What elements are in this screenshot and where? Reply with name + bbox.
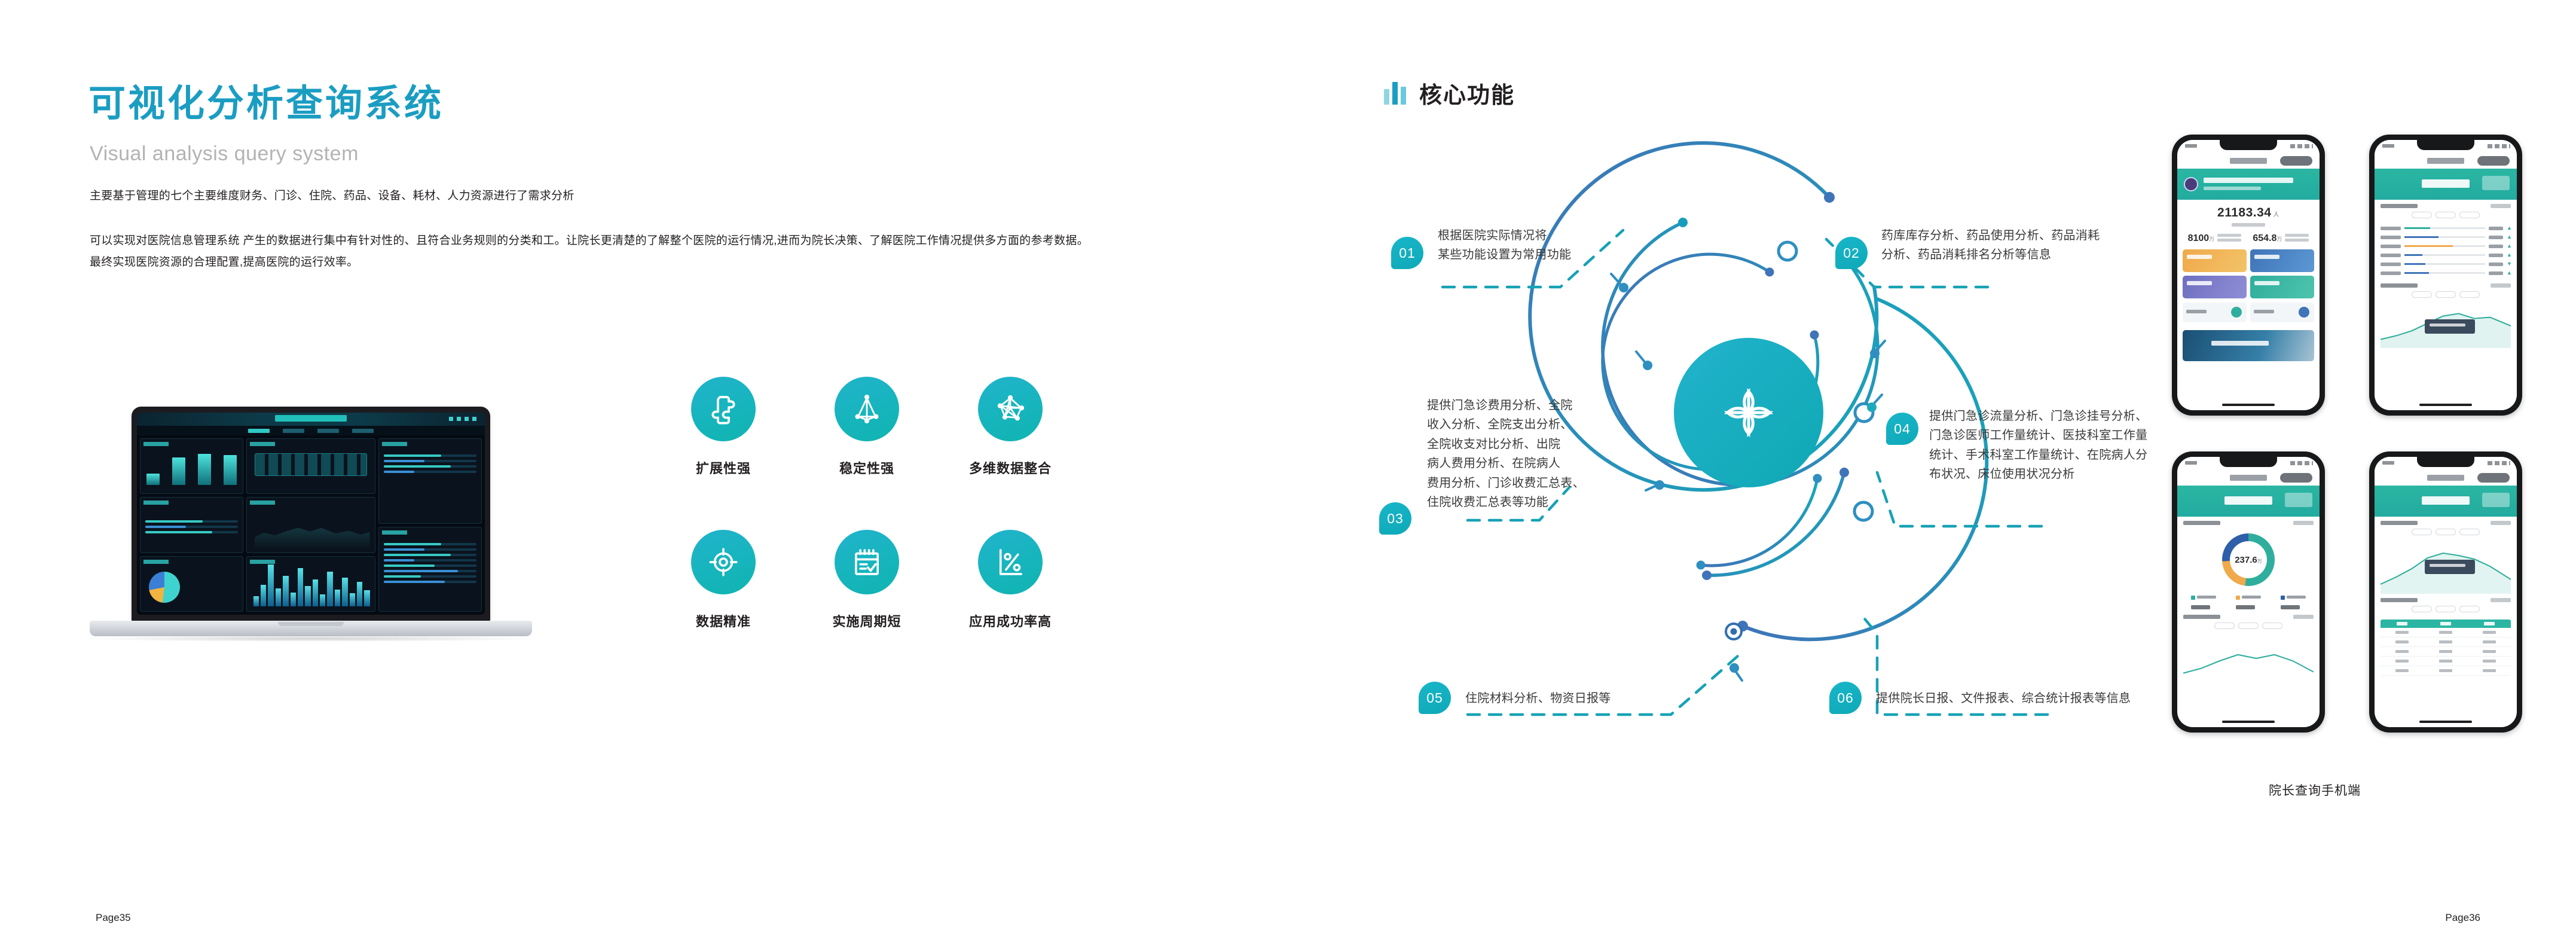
core-function-diagram: 01 根据医院实际情况将 某些功能设置为常用功能 02 药库库存分析、药品使用分… — [1288, 0, 2173, 837]
section-overview — [2375, 200, 2517, 208]
laptop-base-notch — [278, 622, 344, 626]
metric-rows: ▲ ▲ ▲ ▲ ▼ ▲ — [2375, 222, 2517, 279]
dashboard-area-card — [246, 497, 375, 553]
callout-badge-05[interactable]: 05 — [1419, 682, 1451, 714]
dashboard-spike-card — [246, 556, 375, 612]
intro-paragraph-2: 可以实现对医院信息管理系统 产生的数据进行集中有针对性的、且符合业务规则的分类和… — [90, 230, 1094, 273]
table-row — [2381, 637, 2511, 647]
tile-1[interactable] — [2183, 249, 2247, 272]
table-row: ▲ — [2381, 242, 2511, 251]
page-number-left: Page35 — [96, 912, 131, 924]
phone-dashboard: 21183.34人 8100万 654.8万 — [2172, 135, 2325, 416]
laptop-lid — [132, 407, 490, 622]
brochure-spread: 可视化分析查询系统 Visual analysis query system 主… — [0, 0, 2576, 949]
trend-filter-chips[interactable] — [2177, 619, 2320, 633]
dashboard-topbar-icons — [449, 417, 480, 421]
department-filter-chips[interactable] — [2375, 602, 2517, 616]
page-title: 可视化分析查询系统 — [88, 84, 444, 124]
callout-text-03: 提供门急诊费用分析、全院 收入分析、全院支出分析、 全院收支对比分析、出院 病人… — [1427, 396, 1585, 512]
table-row — [2381, 647, 2511, 657]
drug-trend-chart — [2183, 636, 2314, 679]
table-row — [2381, 666, 2511, 676]
home-indicator — [2222, 721, 2275, 723]
tile-4[interactable] — [2250, 276, 2314, 298]
dashboard-bar-card — [140, 438, 243, 494]
feature-item-4: 实施周期短 — [795, 530, 939, 630]
callout-badge-02[interactable]: 02 — [1835, 237, 1868, 269]
trend-filter-chips[interactable] — [2375, 525, 2517, 539]
table-row: ▲ — [2381, 233, 2511, 242]
dashboard-screenshot — [137, 413, 485, 615]
feature-label: 应用成功率高 — [939, 611, 1082, 630]
callout-text-04: 提供门急诊流量分析、门急诊挂号分析、 门急诊医师工作量统计、医技科室工作量 统计… — [1929, 407, 2147, 484]
laptop-mockup — [90, 407, 532, 670]
app-navbar — [2375, 470, 2517, 486]
promo-banner[interactable] — [2183, 330, 2314, 361]
dashboard-table-card — [378, 527, 482, 612]
right-page: 核心功能 — [1288, 0, 2576, 949]
home-indicator — [2419, 404, 2472, 406]
headline-metric: 21183.34人 — [2177, 200, 2320, 227]
dashboard-grid — [137, 435, 485, 615]
tile-2[interactable] — [2250, 249, 2314, 272]
dashboard-topbar — [137, 413, 485, 426]
pie-chart — [149, 572, 180, 603]
table-row — [2381, 657, 2511, 666]
section-composition — [2177, 517, 2320, 525]
feature-label: 实施周期短 — [795, 611, 939, 630]
table-header — [2381, 620, 2511, 628]
feature-item-3: 数据精准 — [652, 530, 795, 630]
donut-chart: 237.6万 — [2177, 525, 2320, 590]
section-trend — [2375, 279, 2517, 288]
phone-outpatient-income — [2369, 451, 2522, 733]
home-indicator — [2222, 404, 2275, 406]
shortcut-cards[interactable] — [2177, 298, 2320, 326]
dashboard-counter-card — [246, 438, 375, 494]
callout-badge-01[interactable]: 01 — [1391, 237, 1423, 269]
callout-badge-06[interactable]: 06 — [1829, 682, 1862, 714]
page-header-drug — [2177, 486, 2320, 517]
feature-label: 数据精准 — [652, 611, 795, 630]
puzzle-icon — [691, 377, 756, 441]
table-row: ▲ — [2381, 224, 2511, 233]
feature-item-5: 应用成功率高 — [939, 530, 1082, 630]
feature-label: 多维数据整合 — [939, 458, 1082, 477]
outpatient-trend-chart — [2381, 542, 2511, 594]
table-row: ▲ — [2381, 268, 2511, 277]
shortcut-staff[interactable] — [2183, 303, 2247, 322]
callout-text-06: 提供院长日报、文件报表、综合统计报表等信息 — [1876, 689, 2131, 708]
phone-mockups: 21183.34人 8100万 654.8万 — [2167, 135, 2550, 756]
hospital-header — [2177, 169, 2320, 200]
table-row: ▲ — [2381, 251, 2511, 260]
percent-chart-icon — [978, 530, 1043, 594]
feature-row-1: 扩展性强 稳定性强 — [652, 377, 1249, 477]
quick-tiles[interactable] — [2177, 249, 2320, 298]
callout-badge-03[interactable]: 03 — [1379, 502, 1411, 535]
shortcut-account[interactable] — [2250, 303, 2314, 322]
period-filter-chips[interactable] — [2375, 208, 2517, 222]
callout-text-02: 药库库存分析、药品使用分析、药品消耗 分析、药品消耗排名分析等信息 — [1881, 226, 2100, 265]
table-row: ▼ — [2381, 260, 2511, 268]
feature-item-2: 多维数据整合 — [939, 377, 1082, 477]
phones-caption: 院长查询手机端 — [2269, 781, 2361, 799]
chart-tooltip — [2425, 319, 2475, 334]
income-trend-chart — [2381, 305, 2511, 348]
app-navbar — [2375, 153, 2517, 169]
section-department-income — [2375, 594, 2517, 602]
node-graph-icon — [978, 377, 1043, 441]
section-trend — [2375, 517, 2517, 525]
app-navbar — [2177, 153, 2320, 169]
phone-inpatient-income: ▲ ▲ ▲ ▲ ▼ ▲ — [2369, 135, 2522, 416]
dashboard-tabs — [137, 426, 485, 435]
page-subtitle: Visual analysis query system — [90, 142, 359, 166]
left-page: 可视化分析查询系统 Visual analysis query system 主… — [0, 0, 1288, 949]
page-header-outpatient — [2375, 486, 2517, 517]
feature-grid: 扩展性强 稳定性强 — [652, 377, 1249, 630]
department-income-table — [2381, 620, 2511, 676]
dashboard-title-placeholder — [275, 415, 347, 422]
table-row — [2381, 628, 2511, 637]
app-navbar — [2177, 470, 2320, 486]
section-trend — [2177, 611, 2320, 619]
pyramid-network-icon — [835, 377, 899, 441]
target-crosshair-icon — [691, 530, 756, 594]
phone-drug-income: 237.6万 — [2172, 451, 2325, 733]
sub-metrics: 8100万 654.8万 — [2177, 227, 2320, 249]
intro-paragraph-1: 主要基于管理的七个主要维度财务、门诊、住院、药品、设备、耗材、人力资源进行了需求… — [90, 185, 575, 207]
feature-label: 扩展性强 — [652, 458, 795, 477]
home-indicator — [2419, 721, 2472, 723]
feature-item-1: 稳定性强 — [795, 377, 939, 477]
chart-tooltip — [2425, 560, 2475, 574]
donut-legend — [2177, 590, 2320, 611]
dashboard-kpi-card — [140, 497, 243, 553]
dashboard-pie-card — [140, 556, 243, 612]
feature-row-2: 数据精准 实施周期短 — [652, 530, 1249, 630]
page-header-inpatient — [2375, 169, 2517, 200]
feature-label: 稳定性强 — [795, 458, 939, 477]
dashboard-progress-card — [378, 438, 482, 524]
feature-item-0: 扩展性强 — [652, 377, 795, 477]
laptop-shadow — [84, 636, 538, 642]
callout-badge-04[interactable]: 04 — [1886, 413, 1918, 445]
calendar-check-icon — [835, 530, 899, 594]
callout-text-05: 住院材料分析、物资日报等 — [1465, 689, 1611, 708]
page-number-right: Page36 — [2445, 912, 2480, 924]
trend-filter-chips[interactable] — [2375, 288, 2517, 301]
callout-text-01: 根据医院实际情况将 某些功能设置为常用功能 — [1438, 226, 1571, 265]
tile-3[interactable] — [2183, 276, 2247, 298]
